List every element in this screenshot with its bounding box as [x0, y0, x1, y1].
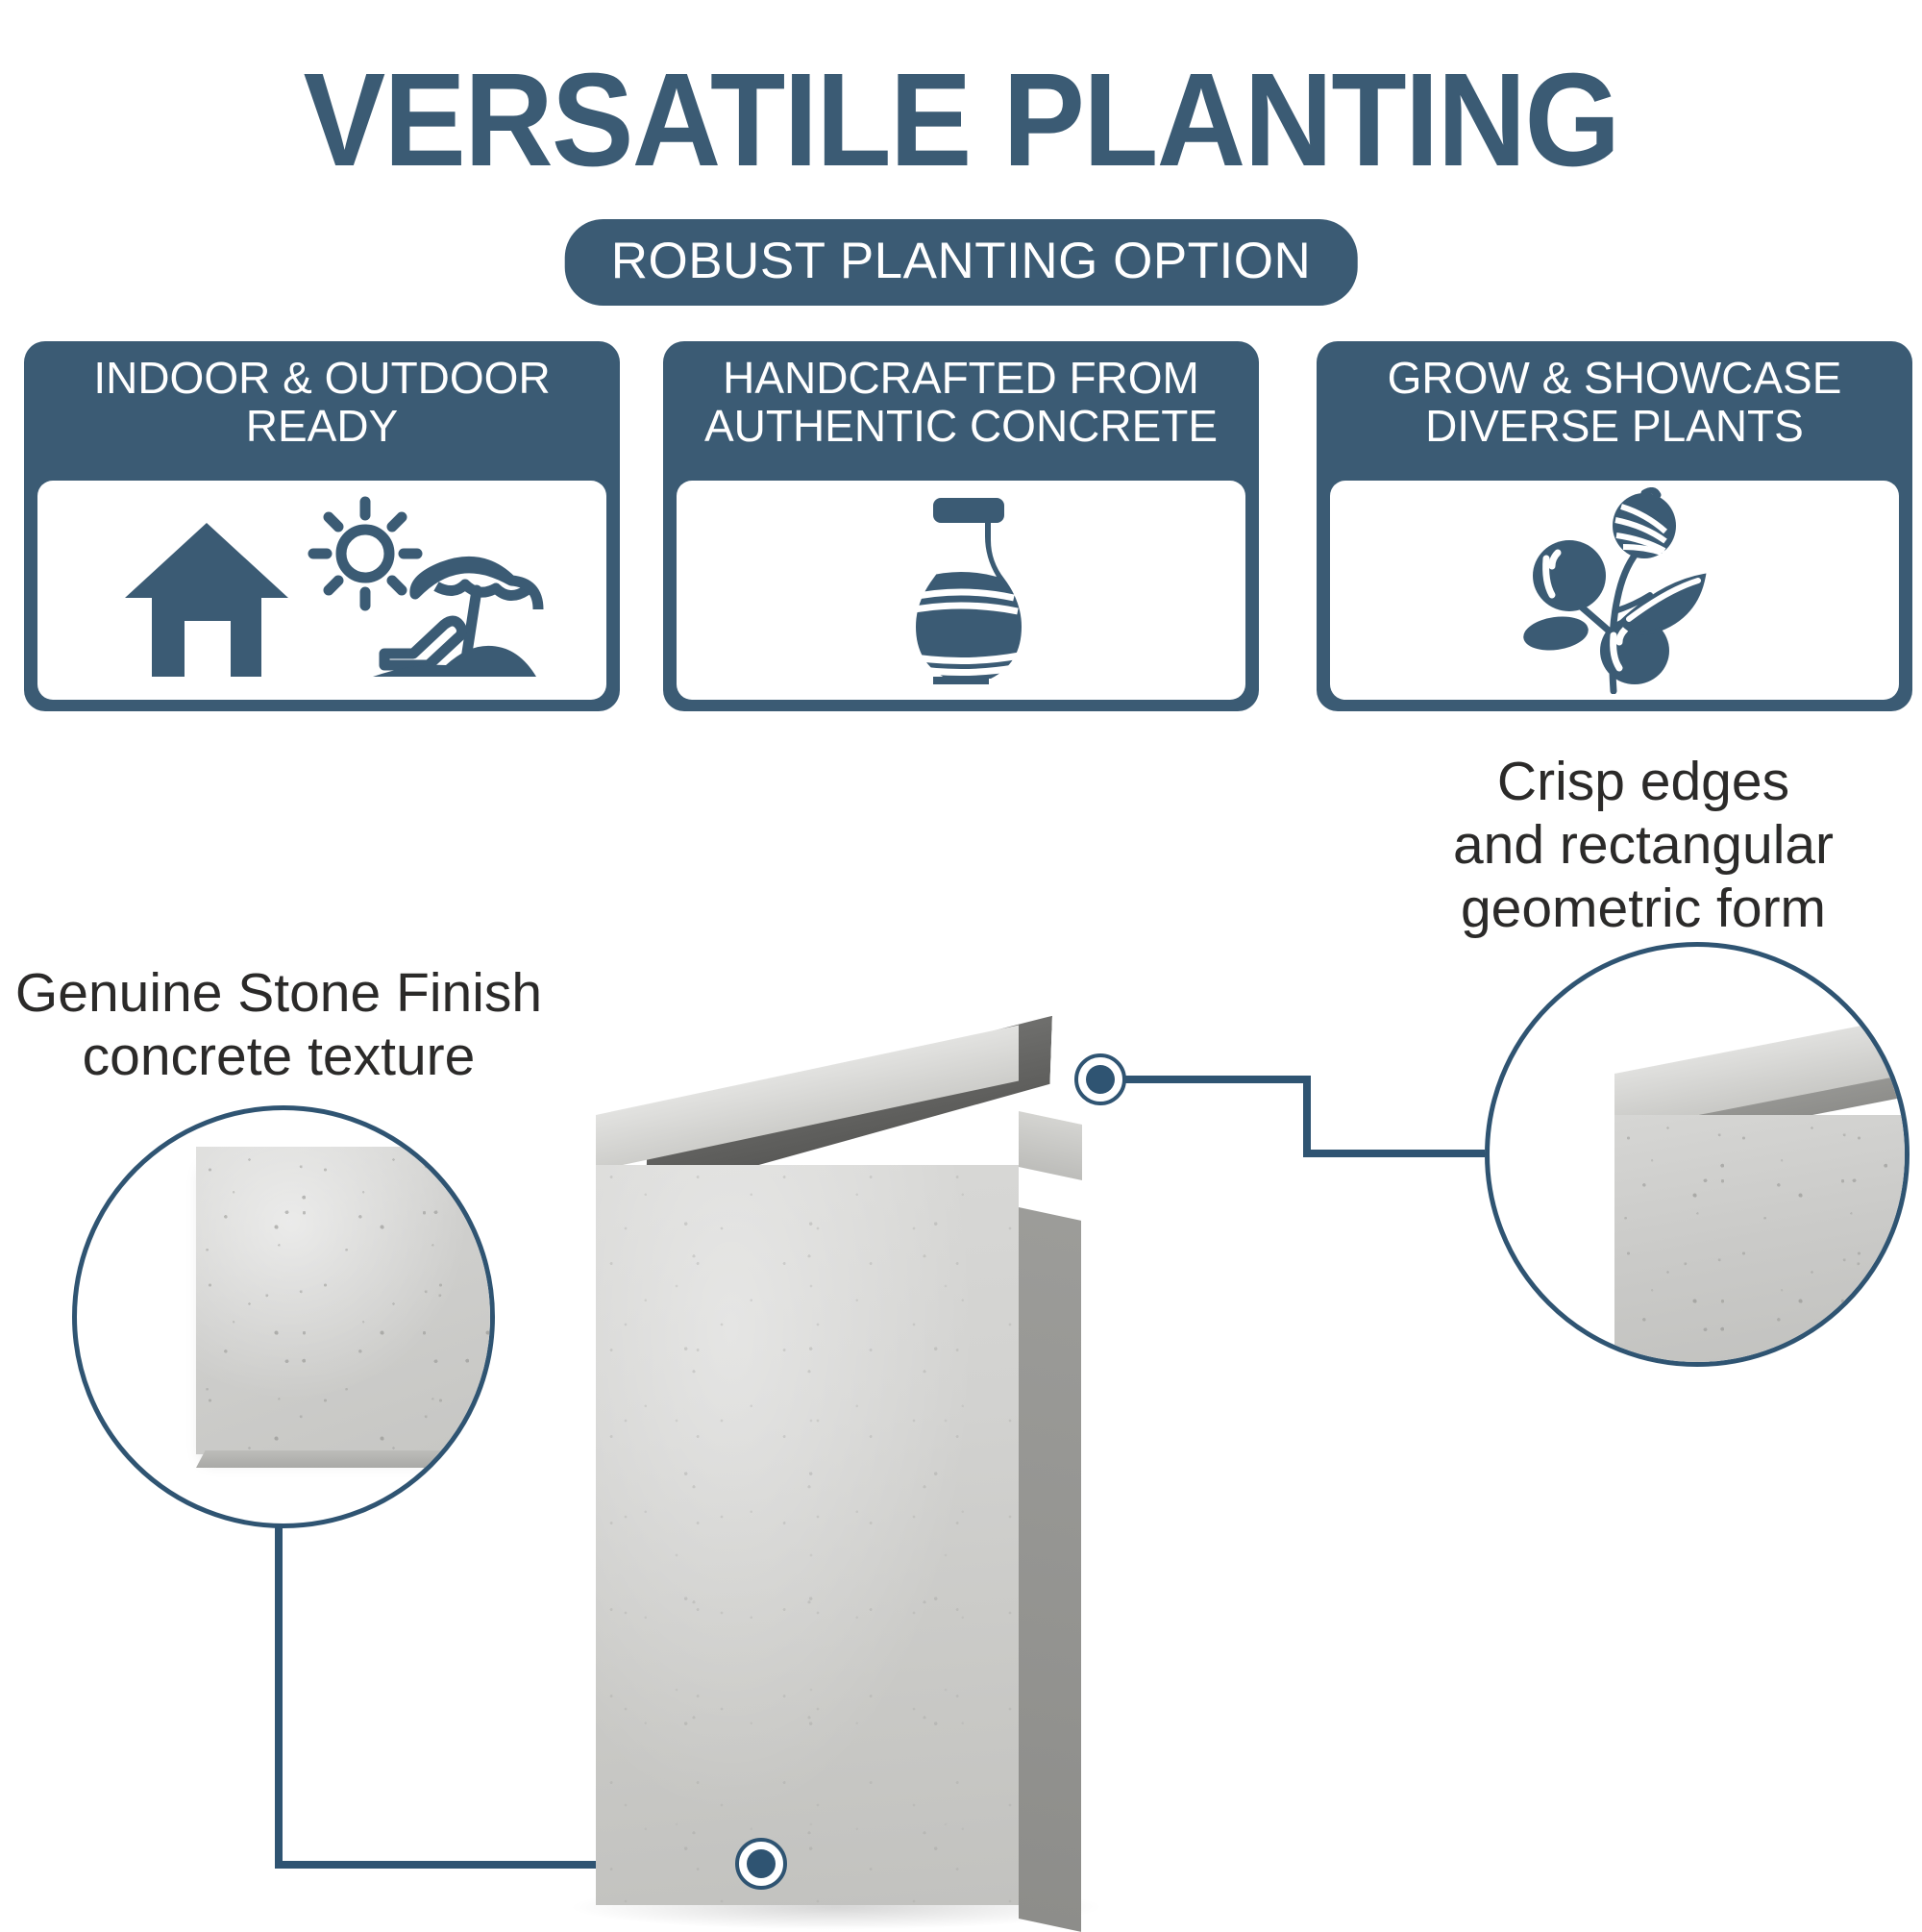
planter-side-face: [1019, 1207, 1081, 1932]
concrete-slab-closeup: [196, 1147, 495, 1454]
planter-top-rim-side: [1019, 1111, 1082, 1180]
connector-line-right: [1122, 1079, 1485, 1153]
infographic-canvas: VERSATILE PLANTING ROBUST PLANTING OPTIO…: [0, 0, 1922, 1922]
callout-marker-top-rim[interactable]: [1074, 1053, 1126, 1105]
planter-rim-closeup: [1490, 947, 1905, 1362]
planter-front-face: [596, 1165, 1019, 1905]
detail-circle-rim-edge: [1485, 942, 1910, 1367]
callout-marker-bottom-corner[interactable]: [735, 1838, 787, 1890]
planter-concrete-texture: [596, 1165, 1019, 1905]
concrete-grain-texture: [196, 1147, 495, 1454]
detail-circle-concrete-texture: [72, 1105, 495, 1528]
rim-front-face: [1614, 1115, 1910, 1367]
product-planter-image: [452, 1019, 1144, 1922]
rim-grain-texture: [1614, 1115, 1910, 1367]
